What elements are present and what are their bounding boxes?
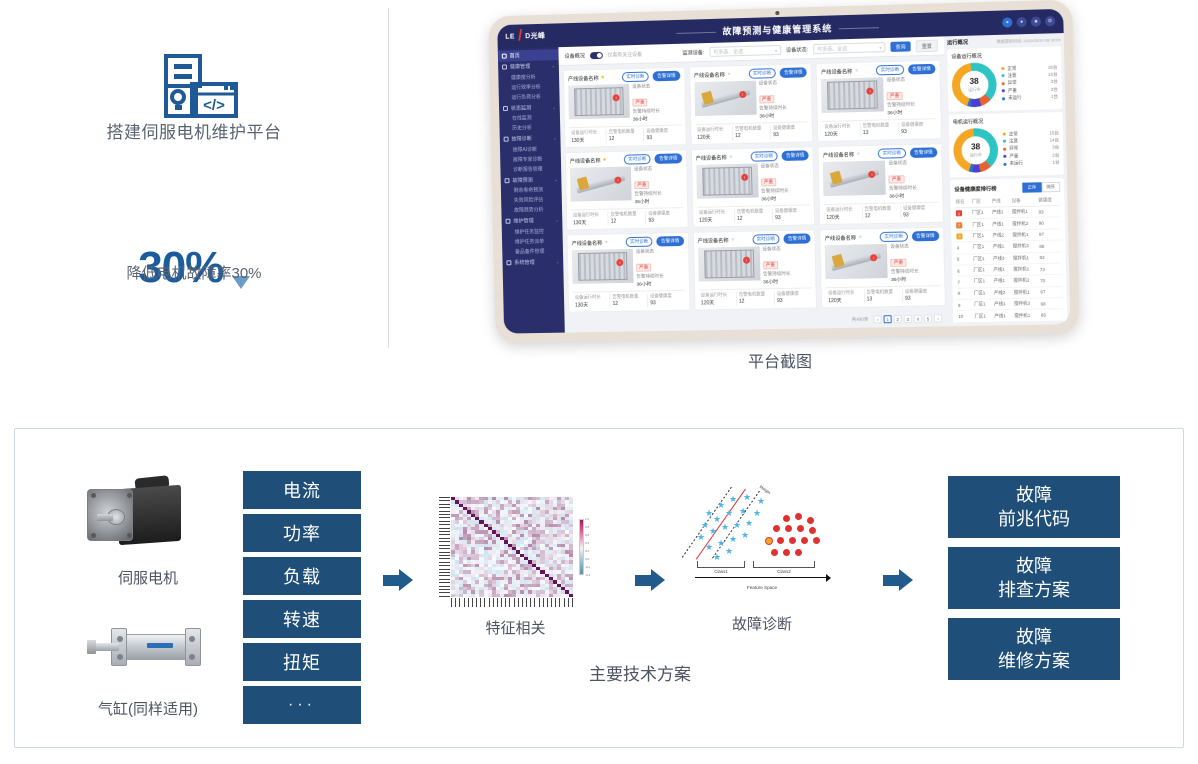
- cell-factory: 厂区1: [973, 276, 993, 288]
- output-line-1: 故障: [1016, 483, 1052, 507]
- device-filter-label: 监测设备:: [682, 49, 704, 57]
- cell-line: 产线1: [992, 275, 1012, 287]
- metric-runtime: 设备运行时长120天: [695, 126, 733, 141]
- cell-device: 搅拌机3: [1013, 298, 1040, 310]
- legend-item: 异常3台: [1003, 145, 1059, 152]
- donut1-legend: 正常16台注意15台异常3台严重3台未运行1台: [1001, 64, 1058, 103]
- class1-star-marker: ★: [713, 553, 721, 562]
- cylinder-nut: [87, 640, 96, 654]
- donut2-title: 电机运行概况: [953, 116, 1059, 126]
- realtime-diagnose-button[interactable]: 实时诊断: [876, 65, 904, 76]
- cell-rank: 1: [955, 207, 971, 219]
- pagination-prev[interactable]: ‹: [873, 315, 881, 323]
- metric-runtime: 设备运行时长120天: [699, 292, 737, 307]
- tablet-mockup: LE / D光峰 故障预测与健康管理系统 ● ● ■ ⚙ 首: [470, 0, 1090, 350]
- search-button[interactable]: 查询: [890, 41, 910, 52]
- favorite-star-icon[interactable]: ★: [858, 234, 863, 240]
- ranking-table: 排名厂区产线设备健康度 1厂区1产线1搅拌机1932厂区1产线1搅拌机2903厂…: [955, 195, 1064, 323]
- equipment-caption-motor: 伺服电机: [73, 567, 223, 588]
- overview-label: 设备概况: [564, 52, 585, 60]
- alarm-duration-value: 36小时: [887, 108, 936, 116]
- favorite-star-icon[interactable]: ★: [729, 154, 734, 160]
- reset-button[interactable]: 重置: [916, 40, 939, 53]
- pagination-page-1[interactable]: 1: [884, 315, 892, 323]
- cell-health: 82: [1038, 252, 1061, 264]
- chevron-down-icon: ⌄: [555, 218, 558, 223]
- cell-rank: 6: [956, 265, 972, 277]
- bell-icon[interactable]: ●: [1002, 17, 1012, 27]
- device-photo: !: [694, 81, 756, 117]
- legend-item: 正常15台: [1003, 130, 1059, 137]
- sidebar-item-label: 故障诊断: [511, 135, 531, 142]
- donut1-label: 运行中: [968, 86, 980, 92]
- legend-value: 3台: [1052, 145, 1059, 151]
- class2-dot-marker: [797, 525, 804, 532]
- ranking-title: 设备健康度排行榜: [954, 185, 996, 193]
- device-status-label: 设备状态: [636, 248, 684, 255]
- cell-health: 90: [1038, 217, 1061, 229]
- alarm-detail-button[interactable]: 告警详情: [655, 153, 682, 164]
- equipment-column: 伺服电机 气缸(同样适用): [73, 469, 223, 731]
- status-select-placeholder: 可多选、全选: [817, 45, 847, 53]
- output-line-1: 故障: [1016, 625, 1052, 649]
- watch-only-toggle[interactable]: [590, 51, 603, 58]
- metric-runtime: 设备运行时长120天: [697, 209, 735, 224]
- ranking-row: 10厂区1产线1搅拌机165: [957, 309, 1063, 322]
- cell-line: 产线2: [993, 287, 1013, 299]
- cell-line: 产线2: [991, 230, 1011, 242]
- cell-health: 65: [1040, 309, 1063, 321]
- metric-health: 设备健康度93: [901, 205, 939, 220]
- metric-health: 设备健康度93: [644, 127, 681, 142]
- equipment-caption-cylinder: 气缸(同样适用): [73, 698, 223, 719]
- device-card[interactable]: 产线设备名称★实时诊断告警详情!设备状态严重告警持续时长36小时设备运行时长13…: [565, 149, 689, 230]
- parameter-box-3[interactable]: 转速: [243, 600, 361, 638]
- alarm-detail-button[interactable]: 告警详情: [910, 147, 938, 158]
- pagination-page-5[interactable]: 5: [924, 314, 932, 322]
- status-filter-label: 设备状态:: [786, 46, 808, 54]
- pagination-next[interactable]: ›: [934, 314, 942, 322]
- right-panel: 运行概况 数据更新时间: 2020/05/20 08:30:00 设备运行概况 …: [944, 33, 1071, 326]
- legend-item: 严重2台: [1003, 152, 1059, 159]
- alarm-duration-label: 告警持续时长: [634, 190, 682, 197]
- alarm-detail-button[interactable]: 告警详情: [780, 67, 808, 78]
- colorbar-tick: 0.8: [585, 525, 595, 529]
- heatmap-colorbar: [579, 519, 584, 575]
- platform-caption: 搭建伺服电机维护平台: [0, 118, 388, 143]
- cell-device: 搅拌机1: [1012, 264, 1039, 276]
- device-status-donut: 38 运行中: [951, 62, 997, 107]
- pagination-page-4[interactable]: 4: [914, 315, 922, 323]
- legend-color-dot: [1003, 133, 1006, 136]
- output-line-2: 维修方案: [998, 649, 1070, 673]
- legend-label: 异常: [1008, 80, 1022, 86]
- right-panel-header: 运行概况 数据更新时间: 2020/05/20 08:30:00: [947, 36, 1061, 46]
- class1-star-marker: ★: [709, 527, 717, 536]
- arrow-right-icon-1: [383, 569, 413, 591]
- fault-diagnosis-chart: Margin Class1 Class2 Feature Space ★★★★★…: [687, 481, 837, 599]
- sort-option-倒序[interactable]: 倒序: [1041, 182, 1060, 193]
- class1-star-marker: ★: [745, 519, 753, 528]
- user-icon[interactable]: ●: [1016, 17, 1026, 27]
- code-window-icon: </>: [148, 54, 240, 120]
- output-box-1[interactable]: 故障排查方案: [948, 547, 1120, 609]
- cell-rank: 9: [957, 299, 973, 311]
- alarm-duration-label: 告警持续时长: [759, 104, 808, 111]
- sidebar-item-label: 系统管理: [514, 258, 534, 265]
- alarm-duration-label: 告警持续时长: [889, 185, 938, 192]
- cell-health: 93: [1037, 206, 1060, 218]
- legend-item: 正常16台: [1001, 64, 1057, 72]
- device-select-placeholder: 可多选、全选: [713, 48, 743, 56]
- metric-alarm-count: 告警电机数量12: [733, 125, 771, 140]
- correlation-heatmap: 1.00.80.60.40.20.0-0.2-0.4: [433, 491, 598, 603]
- device-status-label: 设备状态: [762, 245, 811, 252]
- cell-device: 搅拌机3: [1012, 241, 1039, 253]
- donut2-label: 运行中: [970, 152, 982, 158]
- alarm-duration-value: 36小时: [636, 280, 684, 288]
- class1-star-marker: ★: [729, 495, 737, 504]
- device-card-name: 产线设备名称: [825, 234, 856, 242]
- colorbar-tick: 0.4: [585, 541, 595, 545]
- class1-star-marker: ★: [757, 497, 765, 506]
- class1-bracket: [697, 561, 745, 568]
- class1-star-marker: ★: [753, 509, 761, 518]
- device-card-name: 产线设备名称: [694, 71, 725, 79]
- class2-dot-marker: [795, 549, 802, 556]
- device-status-badge: 严重: [636, 264, 651, 272]
- svg-text:</>: </>: [203, 97, 225, 114]
- cell-line: 产线1: [992, 241, 1012, 253]
- ranking-col-header: 产线: [991, 196, 1011, 207]
- gear-icon[interactable]: ⚙: [1045, 16, 1055, 26]
- realtime-diagnose-button[interactable]: 实时诊断: [880, 231, 908, 242]
- legend-color-dot: [1003, 140, 1006, 143]
- legend-color-dot: [1002, 82, 1005, 85]
- device-card-name: 产线设备名称: [823, 151, 854, 159]
- colorbar-tick: -0.4: [585, 573, 595, 577]
- sort-option-正序[interactable]: 正序: [1022, 182, 1041, 193]
- alarm-detail-button[interactable]: 告警详情: [911, 231, 939, 242]
- legend-color-dot: [1002, 89, 1005, 92]
- camera-dot: [775, 11, 779, 15]
- motor-status-donut: 38 运行中: [953, 128, 999, 173]
- cards-column: 设备概况 仅看有关注设备 监测设备: 可多选、全选 设备状态:: [558, 36, 950, 332]
- class1-star-marker: ★: [721, 523, 729, 532]
- rank-medal: 2: [956, 222, 962, 228]
- metric-alarm-count: 告警电机数量13: [864, 289, 903, 304]
- metric-health: 设备健康度93: [775, 290, 813, 305]
- home-icon: [502, 54, 507, 59]
- cell-rank: 3: [955, 230, 971, 242]
- sidebar[interactable]: 首页健康管理⌄健康度分析运行效率分析运行负荷分析状态监测⌄在线监测历史分析故障诊…: [498, 47, 565, 333]
- alarm-duration-label: 告警持续时长: [636, 273, 684, 280]
- alarm-duration-label: 告警持续时长: [887, 101, 936, 108]
- tablet-caption: 平台截图: [470, 348, 1090, 372]
- cell-health: 73: [1039, 263, 1062, 275]
- class2-dot-marker: [801, 537, 808, 544]
- tablet-frame: LE / D光峰 故障预测与健康管理系统 ● ● ■ ⚙ 首: [488, 0, 1079, 343]
- device-card[interactable]: 产线设备名称★实时诊断告警详情!设备状态严重告警持续时长36小时设备运行时长12…: [691, 146, 816, 228]
- device-card[interactable]: 产线设备名称★实时诊断告警详情!设备状态严重告警持续时长36小时设备运行时长13…: [563, 67, 687, 149]
- favorite-star-icon[interactable]: ★: [727, 71, 732, 77]
- device-card-name: 产线设备名称: [568, 74, 599, 82]
- device-status-label: 设备状态: [890, 243, 939, 250]
- device-photo: !: [696, 164, 758, 199]
- class1-star-marker: ★: [733, 521, 741, 530]
- alarm-badge-icon: !: [868, 171, 875, 178]
- metric-alarm-count: 告警电机数量12: [737, 291, 775, 306]
- output-box-2[interactable]: 故障维修方案: [948, 618, 1120, 680]
- class1-star-marker: ★: [701, 521, 709, 530]
- realtime-diagnose-button[interactable]: 实时诊断: [622, 72, 649, 83]
- colorbar-tick: 0.2: [585, 549, 595, 553]
- diagnose-icon: [504, 137, 509, 142]
- metric-health: 设备健康度93: [648, 293, 685, 308]
- cell-rank: 10: [957, 311, 973, 323]
- alarm-detail-button[interactable]: 告警详情: [908, 64, 936, 75]
- metric-alarm-count: 告警电机数量12: [610, 293, 648, 308]
- cell-device: 搅拌机1: [1013, 309, 1040, 321]
- class2-dot-marker: [809, 527, 816, 534]
- class1-star-marker: ★: [743, 493, 751, 502]
- favorite-star-icon[interactable]: ★: [602, 157, 607, 163]
- svm-caption: 故障诊断: [687, 613, 837, 634]
- status-select[interactable]: 可多选、全选: [813, 42, 885, 54]
- favorite-star-icon[interactable]: ★: [604, 239, 609, 245]
- pagination-page-3[interactable]: 3: [904, 315, 912, 323]
- parameter-box-0[interactable]: 电流: [243, 471, 361, 509]
- alarm-detail-button[interactable]: 告警详情: [781, 150, 809, 161]
- device-photo: !: [698, 246, 760, 281]
- metric-runtime: 设备运行时长130天: [569, 129, 607, 144]
- device-card-name: 产线设备名称: [570, 157, 601, 165]
- legend-label: 注意: [1007, 72, 1021, 78]
- device-photo: !: [821, 77, 884, 113]
- legend-item: 严重3台: [1002, 86, 1058, 94]
- realtime-diagnose-button[interactable]: 实时诊断: [626, 237, 653, 247]
- device-status-badge: 严重: [759, 95, 774, 103]
- legend-color-dot: [1002, 97, 1005, 100]
- device-photo: !: [568, 84, 630, 119]
- metric-health: 设备健康度93: [903, 288, 941, 303]
- device-status-label: 设备状态: [632, 83, 680, 90]
- heatmap-block: 1.00.80.60.40.20.0-0.2-0.4 特征相关: [433, 491, 598, 638]
- device-card-name: 产线设备名称: [698, 237, 729, 245]
- metric-health: 设备健康度93: [773, 207, 811, 222]
- alarm-duration-label: 告警持续时长: [633, 108, 681, 115]
- device-card[interactable]: 产线设备名称★实时诊断告警详情!设备状态严重告警持续时长36小时设备运行时长12…: [816, 60, 942, 142]
- parameter-box-5[interactable]: ···: [243, 686, 361, 724]
- arrow-right-icon-3: [883, 569, 913, 591]
- device-status-badge: 严重: [634, 181, 649, 189]
- output-box-0[interactable]: 故障前兆代码: [948, 476, 1120, 538]
- cell-health: 87: [1038, 229, 1061, 241]
- sidebar-item-label: 故障预测: [512, 176, 532, 183]
- class1-star-marker: ★: [725, 547, 733, 556]
- legend-label: 未运行: [1008, 95, 1022, 101]
- device-card[interactable]: 产线设备名称★实时诊断告警详情!设备状态严重告警持续时长36小时设备运行时长12…: [692, 229, 817, 310]
- legend-color-dot: [1003, 155, 1006, 158]
- metric-runtime: 设备运行时长120天: [826, 290, 865, 305]
- alarm-badge-icon: !: [739, 91, 746, 98]
- device-card[interactable]: 产线设备名称★实时诊断告警详情!设备状态严重告警持续时长36小时设备运行时长12…: [818, 143, 944, 225]
- alarm-detail-button[interactable]: 告警详情: [657, 236, 684, 246]
- device-status-badge: 严重: [891, 259, 907, 267]
- legend-item: 异常3台: [1002, 79, 1058, 87]
- motor-shaft: [97, 514, 113, 521]
- realtime-diagnose-button[interactable]: 实时诊断: [878, 148, 906, 159]
- class2-dot-marker: [771, 549, 778, 556]
- realtime-diagnose-button[interactable]: 实时诊断: [750, 151, 778, 162]
- device-status-donut-panel: 设备运行概况 38 运行中 正常16台注意15台异: [947, 46, 1062, 112]
- device-select[interactable]: 可多选、全选: [709, 45, 781, 57]
- metric-alarm-count: 告警电机数量12: [862, 205, 901, 220]
- legend-value: 3台: [1051, 79, 1058, 85]
- grid-icon[interactable]: ■: [1031, 16, 1041, 26]
- update-time: 数据更新时间: 2020/05/20 08:30:00: [997, 37, 1061, 45]
- stat-caption: 降低电机故障率30%: [0, 262, 388, 283]
- cell-device: 搅拌机1: [1011, 229, 1038, 241]
- cell-device: 搅拌机1: [1013, 286, 1040, 298]
- cell-health: 70: [1039, 275, 1062, 287]
- donut2-legend: 正常15台注意14台异常3台严重2台未运行1台: [1003, 130, 1060, 169]
- heatmap-col-ticks: [451, 598, 573, 607]
- cell-health: 66: [1040, 298, 1063, 310]
- device-status-badge: 严重: [763, 261, 778, 269]
- class1-star-marker: ★: [713, 515, 721, 524]
- pagination-page-2[interactable]: 2: [894, 315, 902, 323]
- output-line-2: 排查方案: [998, 578, 1070, 602]
- metric-runtime: 设备运行时长120天: [822, 123, 861, 138]
- cell-line: 产线1: [993, 310, 1013, 322]
- alarm-badge-icon: !: [743, 257, 750, 264]
- alarm-duration-label: 告警持续时长: [891, 268, 940, 275]
- cell-device: 搅拌机2: [1011, 218, 1038, 230]
- device-photo: !: [825, 244, 888, 279]
- device-card-grid: 产线设备名称★实时诊断告警详情!设备状态严重告警持续时长36小时设备运行时长13…: [559, 56, 950, 319]
- realtime-diagnose-button[interactable]: 实时诊断: [624, 154, 651, 165]
- cell-device: 搅拌机1: [1012, 252, 1039, 264]
- favorite-star-icon[interactable]: ★: [854, 68, 859, 74]
- class2-dot-marker: [773, 525, 780, 532]
- device-card-name: 产线设备名称: [696, 154, 727, 162]
- class2-dot-marker: [785, 525, 792, 532]
- colorbar-tick: 0.0: [585, 557, 595, 561]
- realtime-diagnose-button[interactable]: 实时诊断: [748, 68, 776, 79]
- parameter-list: 电流功率负载转速扭矩···: [243, 471, 361, 729]
- legend-item: 未运行1台: [1003, 160, 1059, 167]
- legend-value: 15台: [1048, 72, 1058, 78]
- arrow-right-icon-2: [635, 569, 665, 591]
- donut1-title: 设备运行概况: [951, 50, 1057, 60]
- right-panel-title: 运行概况: [947, 39, 968, 47]
- metric-runtime: 设备运行时长130天: [571, 212, 609, 227]
- predict-icon: [505, 178, 510, 183]
- sidebar-item-label: 首页: [510, 52, 520, 59]
- parameter-box-4[interactable]: 扭矩: [243, 643, 361, 681]
- heatmap-grid: [451, 497, 573, 597]
- alarm-duration-label: 告警持续时长: [763, 270, 812, 277]
- metric-alarm-count: 告警电机数量12: [607, 128, 645, 143]
- realtime-diagnose-button[interactable]: 实时诊断: [752, 234, 780, 245]
- output-line-2: 前兆代码: [998, 507, 1070, 531]
- chevron-down-icon: ⌄: [554, 177, 557, 182]
- header-icon-group: ● ● ■ ⚙: [1002, 16, 1055, 28]
- class1-star-marker: ★: [741, 531, 749, 540]
- legend-value: 16台: [1048, 64, 1058, 70]
- legend-value: 15台: [1049, 130, 1059, 136]
- cell-factory: 厂区1: [972, 241, 992, 253]
- alarm-badge-icon: !: [867, 88, 874, 95]
- ranking-col-header: 排名: [955, 197, 971, 208]
- legend-label: 正常: [1007, 65, 1021, 71]
- class2-dot-marker: [777, 537, 784, 544]
- metric-health: 设备健康度93: [899, 121, 937, 136]
- cell-rank: 8: [957, 288, 973, 300]
- legend-value: 1台: [1051, 94, 1058, 100]
- favorite-star-icon[interactable]: ★: [856, 151, 861, 157]
- cell-line: 产线1: [991, 218, 1011, 230]
- class1-star-marker: ★: [717, 501, 725, 510]
- left-stats-column: </> 搭建伺服电机维护平台 30% 降低电机故障率30%: [0, 0, 388, 350]
- wrench-icon: [505, 219, 510, 224]
- cell-health: 67: [1039, 286, 1062, 298]
- device-status-badge: 严重: [761, 178, 776, 186]
- motor-status-donut-panel: 电机运行概况 38 运行中 正常15台注意14台异: [949, 112, 1064, 177]
- parameter-box-2[interactable]: 负载: [243, 557, 361, 595]
- metric-runtime: 设备运行时长120天: [824, 206, 863, 221]
- cell-health: 86: [1038, 240, 1061, 252]
- cell-device: 搅拌机1: [1011, 206, 1038, 218]
- output-line-1: 故障: [1016, 554, 1052, 578]
- cell-line: 产线1: [992, 264, 1012, 276]
- donut1-value: 38: [970, 77, 979, 85]
- favorite-star-icon[interactable]: ★: [600, 75, 605, 81]
- ranking-col-header: 设备: [1011, 195, 1038, 206]
- cell-factory: 厂区1: [972, 264, 992, 276]
- device-card-name: 产线设备名称: [821, 68, 852, 76]
- cell-factory: 厂区1: [971, 219, 991, 231]
- class2-dot-marker: [807, 517, 814, 524]
- device-card[interactable]: 产线设备名称★实时诊断告警详情!设备状态严重告警持续时长36小时设备运行时长12…: [820, 227, 946, 309]
- cell-factory: 厂区1: [971, 207, 991, 219]
- alarm-detail-button[interactable]: 告警详情: [653, 71, 680, 82]
- device-card[interactable]: 产线设备名称★实时诊断告警详情!设备状态严重告警持续时长36小时设备运行时长12…: [689, 63, 814, 145]
- cell-factory: 厂区1: [973, 287, 993, 299]
- sidebar-item-20[interactable]: 系统管理⌄: [502, 256, 563, 268]
- favorite-star-icon[interactable]: ★: [730, 237, 735, 243]
- legend-color-dot: [1003, 162, 1006, 165]
- parameter-box-1[interactable]: 功率: [243, 514, 361, 552]
- class1-star-marker: ★: [705, 509, 713, 518]
- legend-value: 3台: [1051, 86, 1058, 92]
- donut2-value: 38: [971, 143, 980, 151]
- heatmap-row-ticks: [439, 497, 450, 597]
- device-status-label: 设备状态: [759, 79, 808, 86]
- sidebar-item-label: 健康管理: [510, 63, 530, 70]
- dashboard: LE / D光峰 故障预测与健康管理系统 ● ● ■ ⚙ 首: [497, 9, 1070, 334]
- class1-star-marker: ★: [697, 533, 705, 542]
- chevron-down-icon: ⌄: [552, 104, 555, 109]
- legend-label: 正常: [1009, 131, 1023, 137]
- alarm-detail-button[interactable]: 告警详情: [783, 233, 811, 244]
- chevron-down-icon: ⌄: [553, 135, 556, 140]
- ranking-sort-toggle[interactable]: 正序倒序: [1022, 182, 1060, 193]
- alarm-badge-icon: !: [614, 177, 621, 184]
- device-card[interactable]: 产线设备名称★实时诊断告警详情!设备状态严重告警持续时长36小时设备运行时长13…: [567, 232, 691, 313]
- metric-runtime: 设备运行时长130天: [573, 294, 611, 309]
